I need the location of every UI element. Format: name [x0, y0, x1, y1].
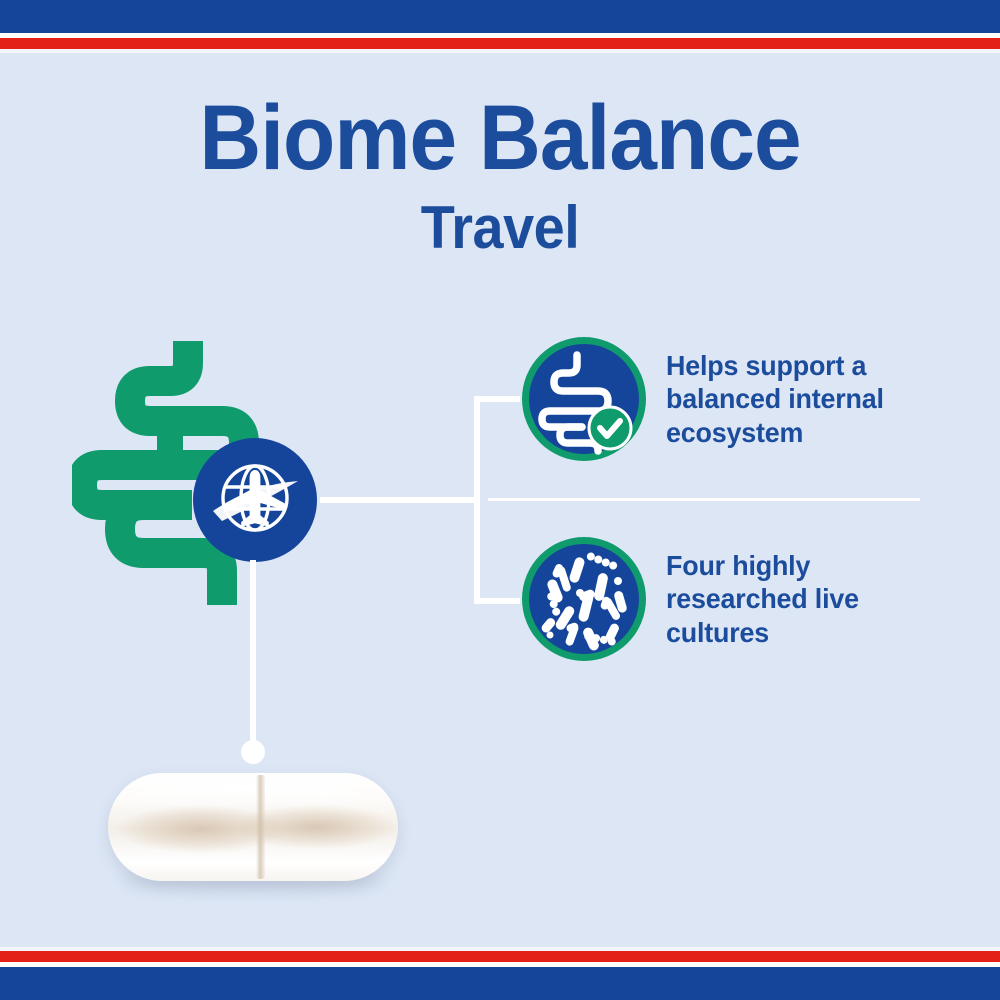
top-blue-band: [0, 0, 1000, 33]
connector-to-capsule: [250, 560, 256, 750]
capsule-highlight: [134, 783, 364, 809]
feature-row-live-cultures: Four highly researched live cultures: [520, 535, 966, 663]
heading-block: Biome Balance Travel: [0, 92, 1000, 258]
product-title: Biome Balance: [35, 92, 965, 184]
capsule-pill-image: [108, 773, 398, 895]
connector-horizontal-main: [320, 497, 480, 503]
bacteria-cultures-icon: [520, 535, 648, 663]
connector-branch-top: [474, 396, 520, 402]
connector-endpoint-dot: [241, 740, 265, 764]
globe-airplane-travel-icon: [192, 437, 318, 563]
connector-branch-bottom: [474, 598, 520, 604]
feature-row-gut-health: Helps support a balanced internal ecosys…: [520, 335, 966, 463]
bottom-red-band: [0, 951, 1000, 962]
feature-divider-line: [488, 498, 920, 501]
product-subtitle: Travel: [35, 198, 965, 258]
feature-label: Four highly researched live cultures: [666, 549, 954, 648]
top-band-gap: [0, 49, 1000, 53]
feature-label: Helps support a balanced internal ecosys…: [666, 349, 954, 448]
top-red-band: [0, 38, 1000, 49]
connector-bracket-vertical: [474, 396, 480, 604]
product-infographic: Biome Balance Travel: [0, 0, 1000, 1000]
bottom-blue-band: [0, 967, 1000, 1000]
gut-check-icon: [520, 335, 648, 463]
capsule-body: [108, 773, 398, 881]
capsule-seam: [256, 775, 265, 879]
